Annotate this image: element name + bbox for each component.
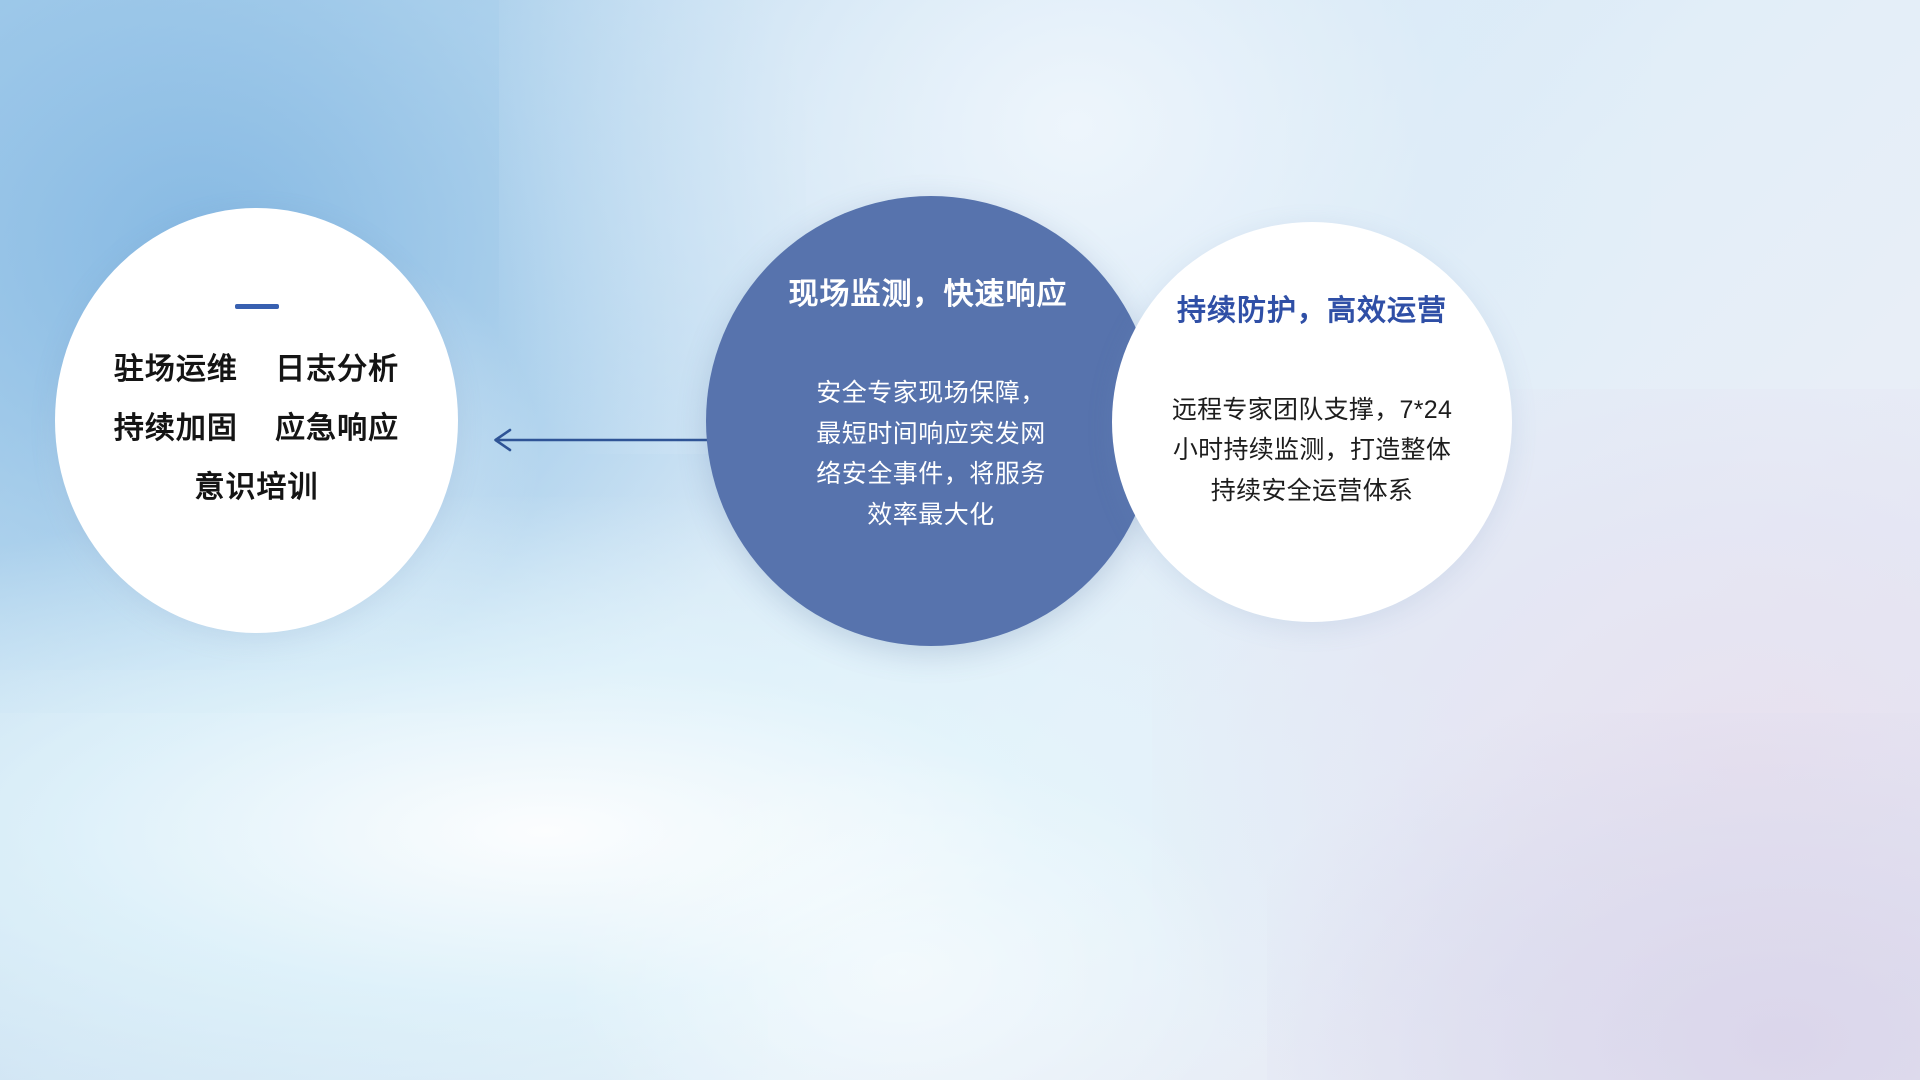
body-line: 安全专家现场保障， [742,373,1120,414]
node-onsite-monitoring[interactable]: 现场监测，快速响应 安全专家现场保障， 最短时间响应突发网 络安全事件，将服务 … [706,196,1156,646]
flow-arrow-left [480,418,725,462]
node-continuous-protection[interactable]: 持续防护，高效运营 远程专家团队支撑，7*24 小时持续监测，打造整体 持续安全… [1112,222,1512,622]
node-onsite-monitoring-body: 安全专家现场保障， 最短时间响应突发网 络安全事件，将服务 效率最大化 [742,373,1120,535]
body-line: 远程专家团队支撑，7*24 [1130,390,1494,431]
accent-dash-divider [235,304,279,309]
node-onsite-monitoring-content: 现场监测，快速响应 安全专家现场保障， 最短时间响应突发网 络安全事件，将服务 … [742,278,1120,535]
body-line: 持续安全运营体系 [1130,471,1494,512]
node-capabilities[interactable]: 驻场运维 日志分析 持续加固 应急响应 意识培训 [55,208,458,633]
capability-line-2: 持续加固 应急响应 [55,414,458,444]
node-continuous-protection-body: 远程专家团队支撑，7*24 小时持续监测，打造整体 持续安全运营体系 [1130,390,1494,512]
node-continuous-protection-heading: 持续防护，高效运营 [1130,296,1494,328]
body-line: 最短时间响应突发网 [742,414,1120,455]
node-capabilities-content: 驻场运维 日志分析 持续加固 应急响应 意识培训 [55,304,458,503]
diagram-canvas: 驻场运维 日志分析 持续加固 应急响应 意识培训 现场监测，快速响应 安全专家现… [0,0,1920,1080]
capability-line-3: 意识培训 [55,473,458,503]
body-line: 效率最大化 [742,495,1120,536]
node-onsite-monitoring-heading: 现场监测，快速响应 [736,278,1120,311]
body-line: 小时持续监测，打造整体 [1130,430,1494,471]
node-continuous-protection-content: 持续防护，高效运营 远程专家团队支撑，7*24 小时持续监测，打造整体 持续安全… [1130,296,1494,511]
body-line: 络安全事件，将服务 [742,454,1120,495]
capability-line-1: 驻场运维 日志分析 [55,355,458,385]
